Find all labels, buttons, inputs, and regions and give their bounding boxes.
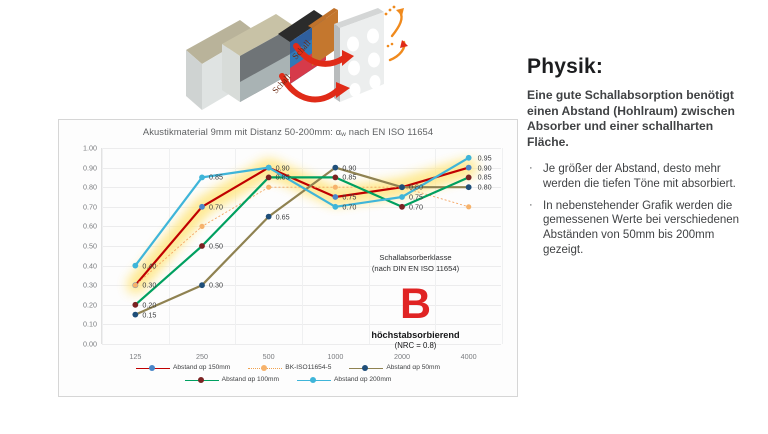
y-tick-label: 0.20 — [83, 300, 97, 309]
series-end-label: 0.80 — [478, 183, 492, 192]
bullet-text: In nebenstehender Grafik werden die geme… — [543, 200, 739, 256]
y-tick-label: 0.60 — [83, 222, 97, 231]
data-point-label: 0.75 — [409, 193, 423, 202]
data-point-label: 0.40 — [142, 261, 156, 270]
bullet-list: ·Je größer der Abstand, desto mehr werde… — [527, 162, 755, 258]
plot-area: 0.000.100.200.300.400.500.600.700.800.90… — [101, 148, 501, 344]
data-point-marker — [332, 175, 338, 181]
bullet-item: ·Je größer der Abstand, desto mehr werde… — [527, 162, 755, 192]
page-title: Physik: — [527, 55, 755, 79]
data-point-label: 0.80 — [409, 183, 423, 192]
chart-title-main: Akustikmaterial 9mm mit Distanz 50-200mm… — [143, 126, 336, 137]
y-tick-label: 0.10 — [83, 320, 97, 329]
data-point-label: 0.30 — [142, 281, 156, 290]
intro-paragraph: Eine gute Schallabsorption benötigt eine… — [527, 88, 755, 151]
x-tick-label: 125 — [129, 352, 141, 361]
series-lines — [102, 148, 502, 344]
data-point-marker — [399, 194, 405, 200]
data-point-marker — [132, 302, 138, 308]
data-point-marker — [199, 243, 205, 249]
slide-canvas: Schall Schall Akustikmaterial 9mm mit Di… — [0, 0, 768, 434]
data-point-label: 0.30 — [209, 281, 223, 290]
bullet-text: Je größer der Abstand, desto mehr werden… — [543, 163, 736, 190]
data-point-marker — [199, 282, 205, 288]
data-point-label: 0.15 — [142, 310, 156, 319]
data-point-label: 0.20 — [142, 300, 156, 309]
legend-swatch — [136, 364, 170, 372]
data-point-marker — [333, 185, 338, 190]
data-point-marker — [466, 155, 472, 161]
chart-title-tail: nach EN ISO 11654 — [346, 126, 433, 137]
data-point-marker — [466, 204, 471, 209]
text-panel: Physik: Eine gute Schallabsorption benöt… — [527, 55, 755, 265]
data-point-marker — [266, 175, 272, 181]
legend-marker — [362, 365, 368, 371]
data-point-marker — [132, 263, 138, 269]
y-tick-label: 0.40 — [83, 261, 97, 270]
x-tick-label: 2000 — [394, 352, 410, 361]
bullet-marker-icon: · — [529, 198, 533, 212]
data-point-marker — [399, 184, 405, 190]
legend-item[interactable]: BK-ISO11654-5 — [248, 362, 331, 374]
legend-marker — [261, 365, 267, 371]
data-point-label: 0.50 — [209, 242, 223, 251]
x-tick-label: 4000 — [461, 352, 477, 361]
legend-item[interactable]: Abstand αp 50mm — [349, 362, 440, 374]
legend-label: BK-ISO11654-5 — [285, 362, 331, 374]
bullet-marker-icon: · — [529, 161, 533, 175]
x-tick-label: 1000 — [327, 352, 343, 361]
data-point-marker — [132, 312, 138, 318]
series-end-label: 0.95 — [478, 153, 492, 162]
data-point-label: 0.90 — [342, 163, 356, 172]
y-tick-label: 1.00 — [83, 144, 97, 153]
y-tick-label: 0.70 — [83, 202, 97, 211]
legend-label: Abstand αp 100mm — [222, 374, 279, 386]
chart-legend: Abstand αp 150mmBK-ISO11654-5Abstand αp … — [59, 362, 517, 386]
data-point-label: 0.70 — [209, 202, 223, 211]
data-point-label: 0.70 — [409, 202, 423, 211]
data-point-label: 0.90 — [276, 163, 290, 172]
legend-swatch — [248, 364, 282, 372]
data-point-marker — [332, 204, 338, 210]
legend-row: Abstand αp 100mmAbstand αp 200mm — [59, 374, 517, 386]
y-tick-label: 0.30 — [83, 281, 97, 290]
data-point-label: 0.70 — [342, 202, 356, 211]
data-point-marker — [466, 175, 472, 181]
x-tick-label: 500 — [263, 352, 275, 361]
legend-item[interactable]: Abstand αp 200mm — [297, 374, 391, 386]
data-point-label: 0.85 — [342, 173, 356, 182]
data-point-label: 0.85 — [276, 173, 290, 182]
data-point-marker — [332, 165, 338, 171]
series-end-label: 0.85 — [478, 173, 492, 182]
legend-label: Abstand αp 150mm — [173, 362, 230, 374]
data-point-marker — [332, 194, 338, 200]
legend-marker — [198, 377, 204, 383]
data-point-label: 0.65 — [276, 212, 290, 221]
y-tick-label: 0.80 — [83, 183, 97, 192]
y-tick-label: 0.50 — [83, 242, 97, 251]
legend-marker — [310, 377, 316, 383]
data-point-marker — [399, 204, 405, 210]
chart-panel: Akustikmaterial 9mm mit Distanz 50-200mm… — [58, 119, 518, 397]
series-line — [135, 158, 468, 266]
legend-swatch — [349, 364, 383, 372]
bullet-item: ·In nebenstehender Grafik werden die gem… — [527, 199, 755, 258]
data-point-marker — [266, 214, 272, 220]
data-point-marker — [199, 224, 204, 229]
legend-label: Abstand αp 50mm — [386, 362, 440, 374]
series-end-label: 0.90 — [478, 163, 492, 172]
legend-label: Abstand αp 200mm — [334, 374, 391, 386]
gridline — [102, 344, 501, 345]
data-point-label: 0.85 — [209, 173, 223, 182]
reflect-arrow-icon — [390, 12, 404, 60]
data-point-marker — [199, 175, 205, 181]
data-point-marker — [266, 165, 272, 171]
data-point-marker — [133, 283, 138, 288]
y-tick-label: 0.00 — [83, 340, 97, 349]
data-point-marker — [199, 204, 205, 210]
legend-marker — [149, 365, 155, 371]
reflect-dots-icon — [385, 6, 396, 48]
vertical-gridline — [502, 148, 503, 344]
data-point-label: 0.75 — [342, 193, 356, 202]
chart-title: Akustikmaterial 9mm mit Distanz 50-200mm… — [59, 126, 517, 138]
y-tick-label: 0.90 — [83, 163, 97, 172]
legend-swatch — [185, 376, 219, 384]
x-tick-label: 250 — [196, 352, 208, 361]
data-point-marker — [466, 165, 472, 171]
data-point-marker — [266, 185, 271, 190]
absorber-illustration: Schall Schall — [178, 2, 414, 122]
legend-swatch — [297, 376, 331, 384]
legend-item[interactable]: Abstand αp 100mm — [185, 374, 279, 386]
data-point-marker — [466, 184, 472, 190]
legend-item[interactable]: Abstand αp 150mm — [136, 362, 230, 374]
legend-row: Abstand αp 150mmBK-ISO11654-5Abstand αp … — [59, 362, 517, 374]
